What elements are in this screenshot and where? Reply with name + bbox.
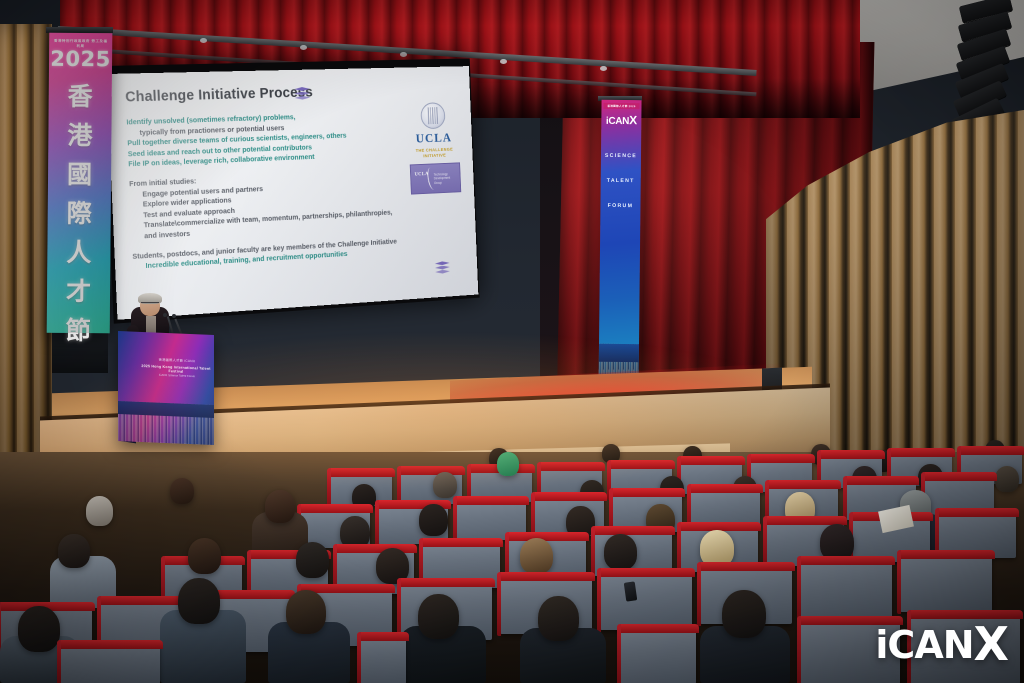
glasses-icon xyxy=(141,302,159,306)
audience-head xyxy=(419,504,448,536)
audience-head xyxy=(433,472,457,498)
banner-right-words: SCIENCE TALENT FORUM xyxy=(600,144,641,219)
microphone-head-icon xyxy=(163,313,167,317)
seat xyxy=(900,554,992,612)
truss-light-icon xyxy=(200,38,207,43)
audience-head xyxy=(58,534,90,568)
slide-block-2: From initial studies: Engage potential u… xyxy=(129,168,401,243)
banner-right-logo: iCANX xyxy=(601,113,641,127)
microphone-head-icon xyxy=(172,314,176,318)
audience-area xyxy=(0,430,1024,683)
ucla-logo-group: UCLA THE CHALLENGE INITIATIVE UCLA Techn… xyxy=(405,102,464,195)
layers-icon xyxy=(435,261,450,274)
banner-right-word: FORUM xyxy=(600,194,640,219)
truss-light-icon xyxy=(500,59,507,64)
ucla-wordmark-sub: THE CHALLENGE INITIATIVE xyxy=(406,146,462,160)
banner-icanx-forum: 香港國際人才節 2025 iCANX SCIENCE TALENT FORUM xyxy=(598,100,641,400)
audience-head xyxy=(995,466,1019,492)
banner-right-word: TALENT xyxy=(601,169,641,194)
slide-block-3: Students, postdocs, and junior faculty a… xyxy=(132,236,402,272)
truss-light-icon xyxy=(600,66,607,71)
ucla-seal-icon xyxy=(420,102,445,129)
audience-head xyxy=(188,538,221,574)
audience-head xyxy=(418,594,459,639)
icanx-watermark: iCANX xyxy=(875,621,1008,667)
audience-head xyxy=(722,590,766,638)
seat xyxy=(620,628,696,683)
ucla-wordmark: UCLA xyxy=(406,130,462,147)
layers-icon xyxy=(294,87,310,100)
banner-right-top-line: 香港國際人才節 2025 xyxy=(603,103,639,109)
podium: 香港國際人才節 iCANX 2025 Hong Kong Internation… xyxy=(118,331,214,445)
podium-line-1: 香港國際人才節 iCANX xyxy=(144,356,210,364)
seat xyxy=(800,560,892,618)
seat xyxy=(600,572,692,630)
truss-light-icon xyxy=(300,45,307,50)
audience-head xyxy=(265,490,295,523)
audience-head xyxy=(170,478,194,504)
banner-left-year: 2025 xyxy=(49,47,112,72)
projection-screen: Challenge Initiative Process Identify un… xyxy=(106,66,478,320)
audience-head xyxy=(86,496,113,526)
audience-head xyxy=(520,538,553,574)
audience-head xyxy=(296,542,329,578)
audience-head xyxy=(286,590,326,634)
banner-left-characters: 香港國際人才節 xyxy=(47,77,112,351)
auditorium-photo: Challenge Initiative Process Identify un… xyxy=(0,0,1024,683)
ucla-purple-sub: Technology Development Group xyxy=(434,172,459,185)
truss-light-icon xyxy=(400,52,407,57)
banner-hk-talent-festival: 香港特別行政區政府 勞工及福利局 2025 香港國際人才節 xyxy=(47,33,113,334)
seat xyxy=(360,636,406,683)
audience-head xyxy=(497,452,519,476)
ucla-purple-logo: UCLA Technology Development Group xyxy=(410,162,462,194)
audience-head xyxy=(18,606,60,652)
banner-left-top-line: 香港特別行政區政府 勞工及福利局 xyxy=(53,38,108,48)
audience-head xyxy=(604,534,637,570)
slide-body: Identify unsolved (sometimes refractory)… xyxy=(126,109,402,281)
slide-block-1: Identify unsolved (sometimes refractory)… xyxy=(126,109,398,170)
seat xyxy=(60,644,160,683)
slide-title: Challenge Initiative Process xyxy=(125,85,313,106)
audience-head xyxy=(538,596,579,641)
audience-head xyxy=(178,578,220,624)
banner-right-word: SCIENCE xyxy=(601,144,641,169)
